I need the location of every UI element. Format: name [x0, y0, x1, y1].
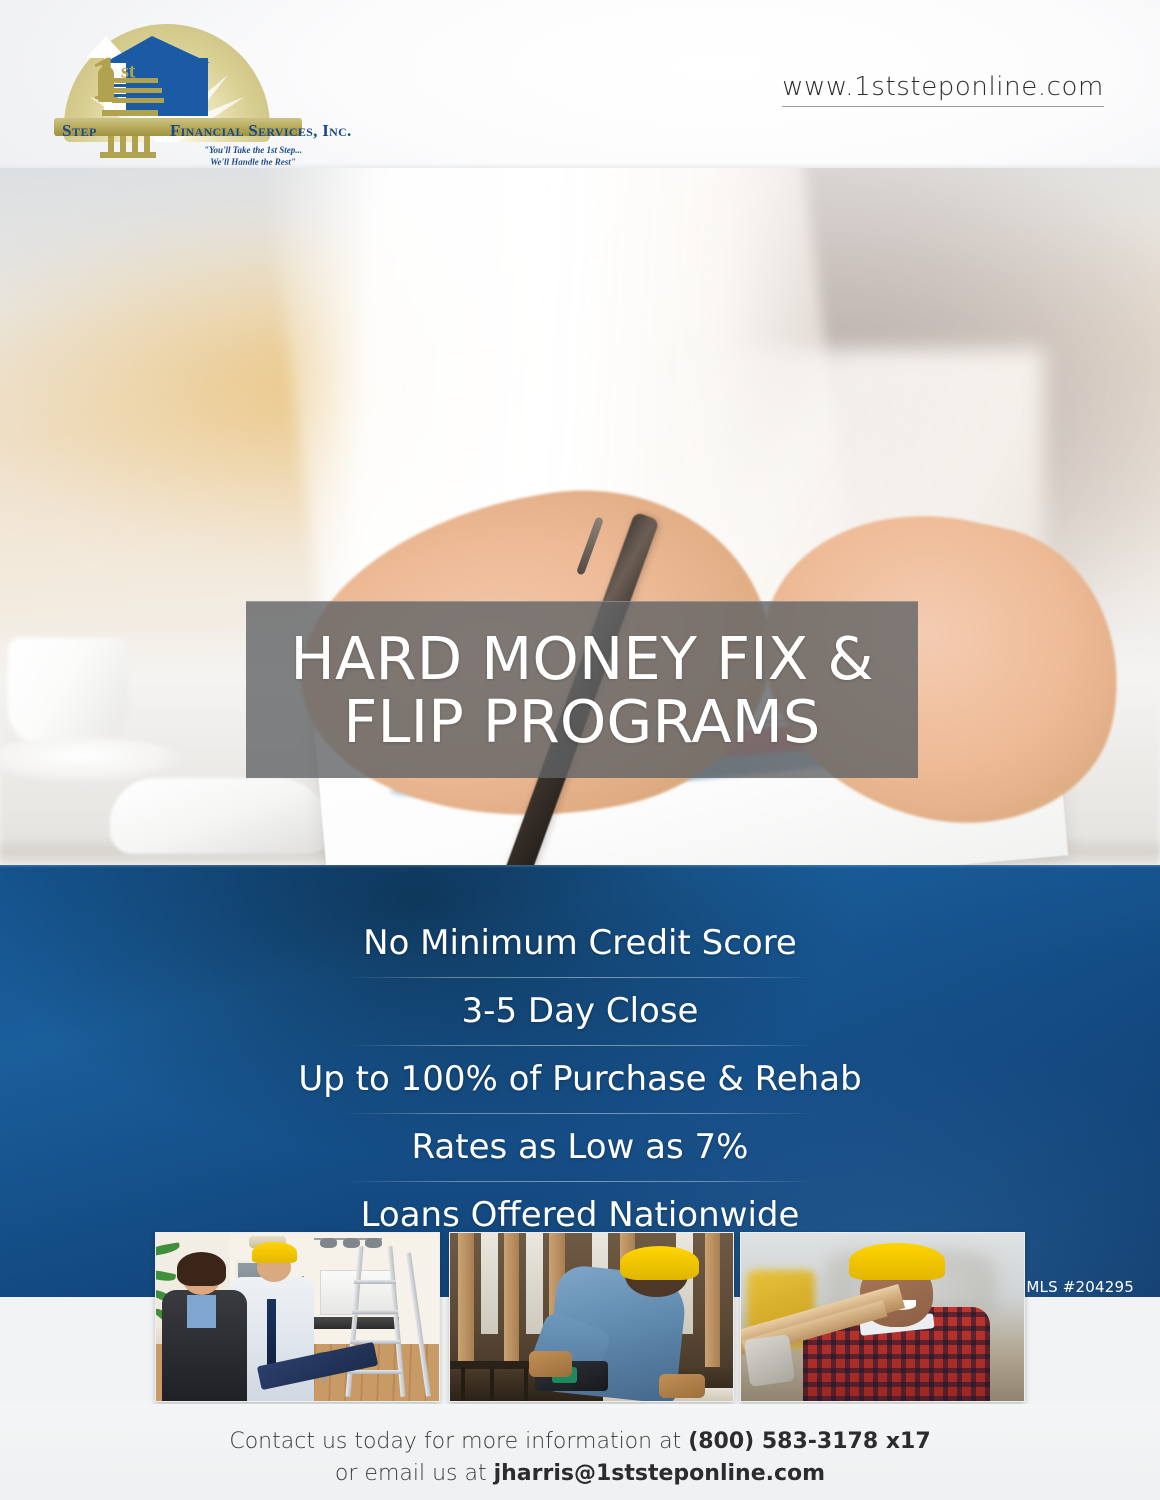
photo-worker-sawing: [449, 1232, 734, 1402]
page-title: HARD MONEY FIX & FLIP PROGRAMS: [290, 627, 873, 753]
footer-contact-prefix: Contact us today for more information at: [229, 1429, 688, 1454]
photo-contractor-lumber: [740, 1232, 1025, 1402]
footer-contact-line: Contact us today for more information at…: [0, 1404, 1160, 1458]
footer-email[interactable]: jharris@1ststeponline.com: [494, 1461, 825, 1486]
computer-mouse: [110, 778, 330, 854]
website-url-text: www.1ststeponline.com: [782, 72, 1104, 107]
logo-tagline-line1: "You'll Take the 1st Step...: [204, 145, 302, 155]
logo-text-step: Step: [62, 121, 97, 141]
logo-text-financial-services: Financial Services, Inc.: [170, 121, 352, 141]
feature-item: No Minimum Credit Score: [0, 909, 1160, 977]
footer-email-line: or email us at jharris@1ststeponline.com: [0, 1458, 1160, 1490]
logo-tagline: "You'll Take the 1st Step... We'll Handl…: [198, 144, 308, 168]
hero-title-banner: HARD MONEY FIX & FLIP PROGRAMS: [246, 601, 918, 778]
hero-section: HARD MONEY FIX & FLIP PROGRAMS: [0, 168, 1160, 865]
page-title-line1: HARD MONEY FIX &: [290, 627, 873, 690]
company-logo[interactable]: 1st Step Financial Services, Inc. "You'l…: [52, 18, 302, 160]
logo-tagline-line2: We'll Handle the Rest": [210, 157, 296, 167]
footer-phone[interactable]: (800) 583-3178 x17: [688, 1429, 930, 1454]
footer-email-prefix: or email us at: [335, 1461, 494, 1486]
page-header: 1st Step Financial Services, Inc. "You'l…: [0, 0, 1160, 168]
feature-item: Up to 100% of Purchase & Rehab: [0, 1045, 1160, 1113]
features-list: No Minimum Credit Score 3-5 Day Close Up…: [0, 865, 1160, 1249]
website-url[interactable]: www.1ststeponline.com: [782, 72, 1104, 102]
page-footer: Contact us today for more information at…: [0, 1404, 1160, 1500]
photo-realtor-contractor: [155, 1232, 440, 1402]
photo-strip: [0, 1232, 1160, 1404]
feature-item: 3-5 Day Close: [0, 977, 1160, 1045]
feature-item: Rates as Low as 7%: [0, 1113, 1160, 1181]
logo-spiral-stairs-icon: [108, 76, 168, 158]
page-title-line2: FLIP PROGRAMS: [290, 690, 873, 753]
coffee-cup: [8, 638, 128, 748]
